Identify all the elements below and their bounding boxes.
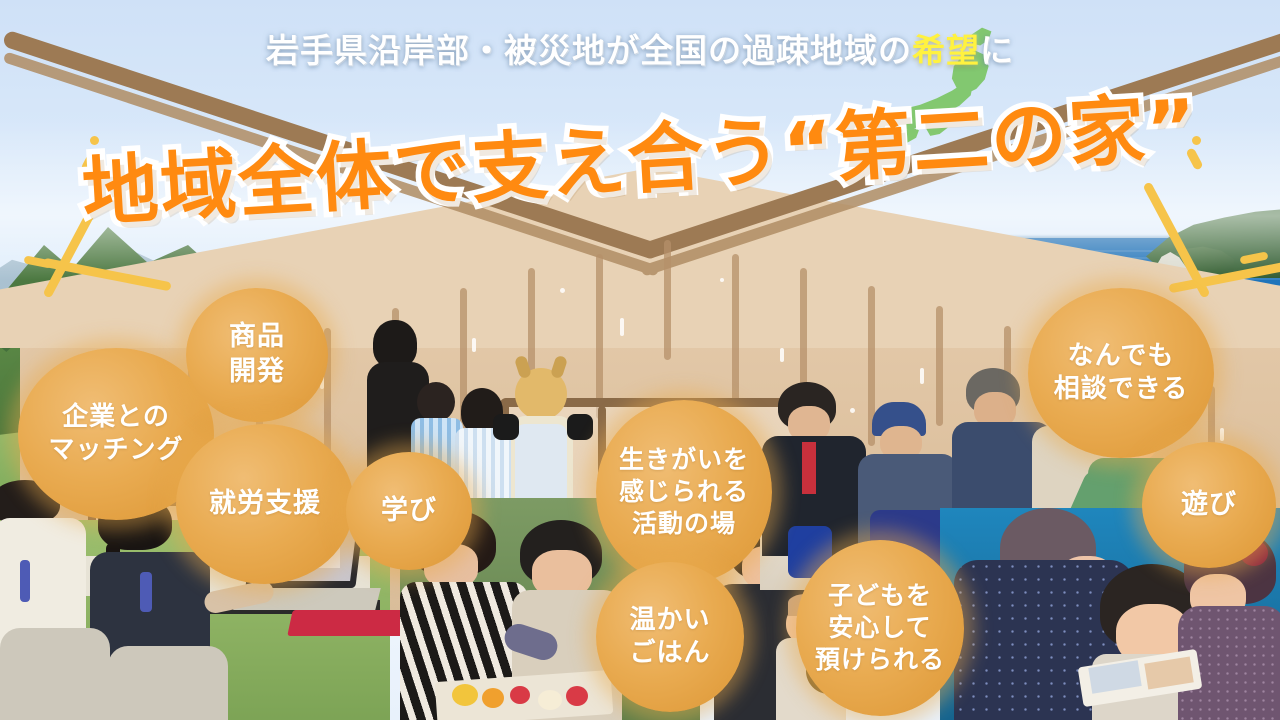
keyword-bubble-line: 商品 — [229, 320, 285, 355]
keyword-bubble-consult: なんでも相談できる — [1028, 288, 1214, 458]
keyword-bubble-line: 相談できる — [1054, 373, 1188, 406]
keyword-bubble-line: 就労支援 — [209, 487, 321, 522]
keyword-bubble-line: 安心して — [815, 612, 945, 644]
keyword-bubble-line: 遊び — [1181, 488, 1237, 523]
keyword-bubble-label: 企業とのマッチング — [44, 401, 187, 468]
keyword-bubble-line: 開発 — [229, 355, 285, 390]
keyword-bubble-line: 活動の場 — [619, 508, 749, 540]
keyword-bubble-label: 生きがいを感じられる活動の場 — [615, 444, 753, 540]
keyword-bubble-play: 遊び — [1142, 442, 1276, 568]
subtitle-highlight: 希望 — [912, 31, 980, 70]
keyword-bubble-purpose: 生きがいを感じられる活動の場 — [596, 400, 772, 584]
keyword-bubble-childcare: 子どもを安心して預けられる — [796, 540, 964, 716]
keyword-bubble-warm-meal: 温かいごはん — [596, 562, 744, 712]
keyword-bubble-label: 就労支援 — [205, 487, 325, 522]
keyword-bubble-line: 預けられる — [815, 644, 945, 676]
keyword-bubble-label: 遊び — [1177, 488, 1241, 523]
keyword-bubble-line: なんでも — [1054, 340, 1188, 373]
keyword-bubble-line: 子どもを — [815, 580, 945, 612]
keyword-bubble-product: 商品開発 — [186, 288, 328, 422]
keyword-bubble-line: ごはん — [629, 637, 710, 670]
keyword-bubble-label: 温かいごはん — [625, 604, 714, 671]
poster-canvas: 岩手県沿岸部・被災地が全国の過疎地域の希望に 地域全体で支え合う“第二の家” 企… — [0, 0, 1280, 720]
subtitle-part-3: に — [980, 31, 1014, 70]
keyword-bubble-line: 感じられる — [619, 476, 749, 508]
poster-subtitle: 岩手県沿岸部・被災地が全国の過疎地域の希望に — [0, 24, 1280, 72]
keyword-bubble-line: 生きがいを — [619, 444, 749, 476]
subtitle-part-1: 岩手県沿岸部・被災地が全国の過疎地域の — [266, 31, 912, 70]
keyword-bubble-line: マッチング — [48, 434, 183, 467]
keyword-bubble-label: 学び — [377, 494, 441, 529]
keyword-bubble-label: 子どもを安心して預けられる — [811, 580, 949, 676]
keyword-bubble-label: 商品開発 — [225, 320, 289, 389]
keyword-bubble-label: なんでも相談できる — [1050, 340, 1192, 407]
keyword-bubble-line: 企業との — [48, 401, 183, 434]
keyword-bubble-line: 学び — [381, 494, 437, 529]
keyword-bubble-employment: 就労支援 — [176, 424, 354, 584]
keyword-bubble-line: 温かい — [629, 604, 710, 637]
keyword-bubble-learning: 学び — [346, 452, 472, 570]
